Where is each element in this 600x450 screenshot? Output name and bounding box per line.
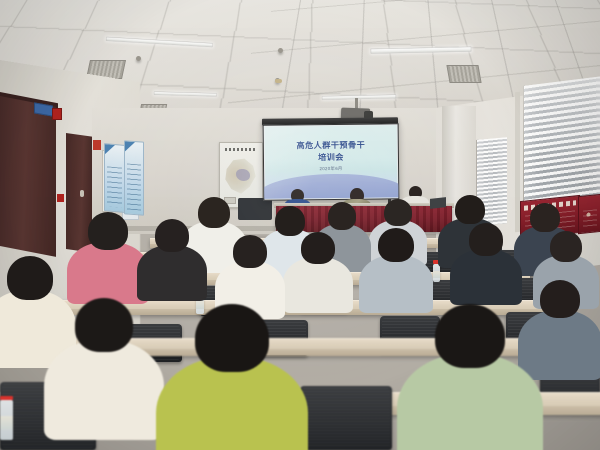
attendee-torso bbox=[397, 354, 543, 450]
attendee-head bbox=[530, 203, 560, 232]
attendee-a16 bbox=[156, 304, 308, 450]
attendee-a17 bbox=[397, 304, 543, 450]
attendee-torso bbox=[450, 249, 522, 305]
attendee-head bbox=[233, 235, 267, 268]
attendee-head bbox=[155, 219, 189, 252]
attendee-head bbox=[550, 231, 582, 262]
attendee-head bbox=[384, 199, 412, 226]
attendee-head bbox=[88, 212, 128, 250]
attendee-a15 bbox=[44, 298, 164, 450]
chair-mesh-back bbox=[302, 388, 390, 448]
attendee-head bbox=[540, 280, 580, 318]
office-chair-14[interactable] bbox=[300, 386, 392, 450]
attendee-head bbox=[75, 298, 133, 352]
attendee-a9 bbox=[137, 219, 207, 308]
attendee-a13 bbox=[450, 223, 522, 312]
water-bottle-7[interactable] bbox=[0, 400, 13, 440]
bottle-label bbox=[0, 416, 13, 430]
attendee-head bbox=[328, 202, 356, 230]
attendee-head bbox=[435, 304, 505, 368]
attendee-head bbox=[7, 256, 53, 300]
attendee-head bbox=[301, 232, 335, 264]
attendee-torso bbox=[137, 245, 207, 301]
attendee-torso bbox=[44, 340, 164, 440]
attendee-head bbox=[378, 228, 414, 262]
attendee-head bbox=[455, 195, 485, 224]
audience-area bbox=[0, 0, 600, 450]
photo-scene: 高危人群干预骨干 培训会 2020年6月 bbox=[0, 0, 600, 450]
attendee-head bbox=[195, 304, 269, 372]
bottle-cap bbox=[0, 396, 13, 400]
attendee-head bbox=[469, 223, 503, 256]
